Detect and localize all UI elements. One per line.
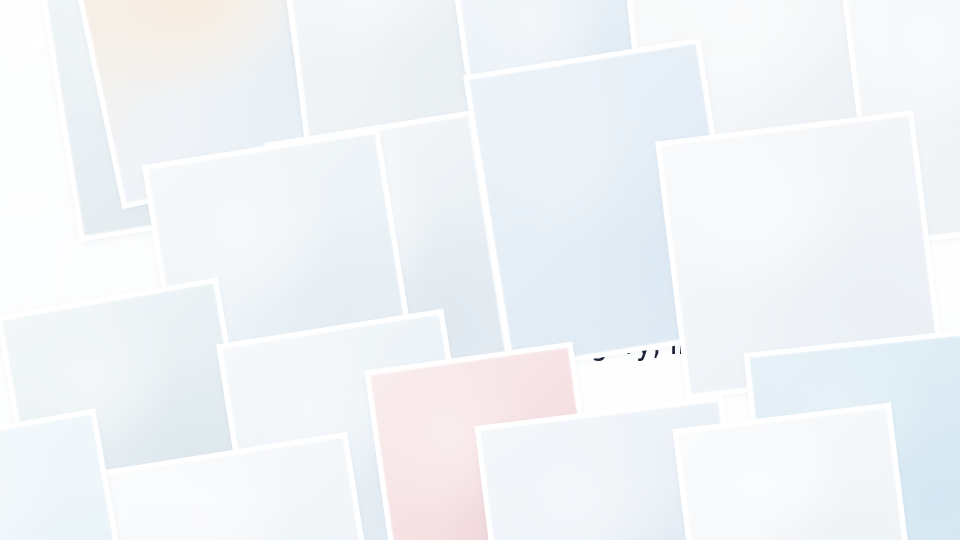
hero-banner: William K. Tom, DDS, MS Board-Certified … — [0, 0, 960, 540]
